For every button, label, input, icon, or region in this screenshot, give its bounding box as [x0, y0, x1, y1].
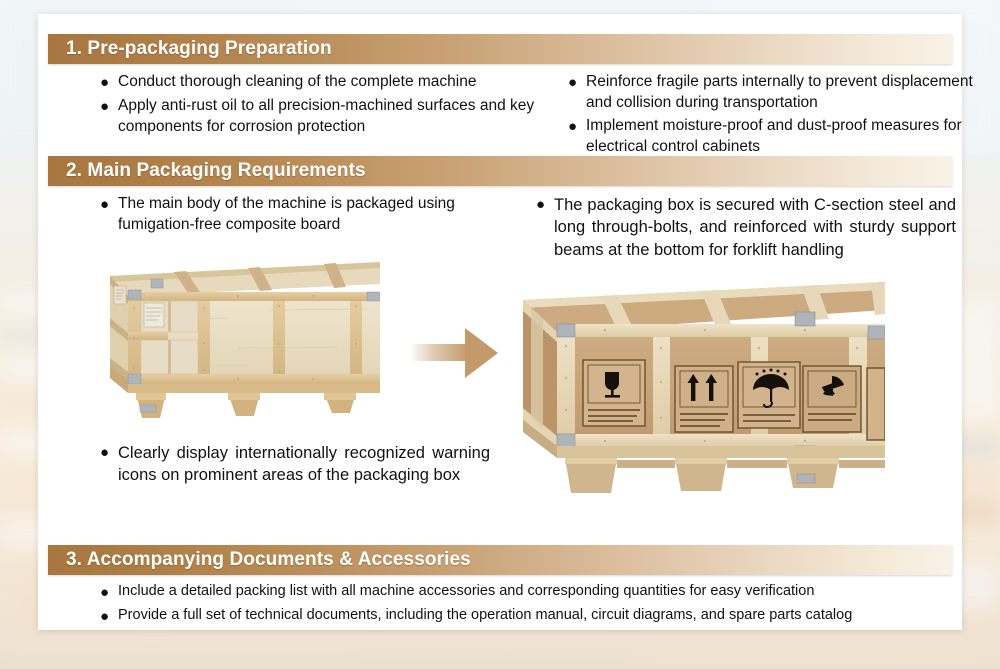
list-item: ● Conduct thorough cleaning of the compl… [100, 72, 550, 93]
section-header-1: 1. Pre-packaging Preparation [48, 34, 952, 64]
bullet-icon: ● [100, 194, 118, 215]
list-item: ● Apply anti-rust oil to all precision-m… [100, 96, 550, 137]
section-title-2: 2. Main Packaging Requirements [48, 160, 366, 182]
crate-left-image [88, 248, 380, 423]
list-item: ● Provide a full set of technical docume… [100, 606, 960, 627]
list-item: ● Reinforce fragile parts internally to … [568, 72, 978, 113]
caution-icon [867, 368, 885, 440]
bullet-icon: ● [100, 96, 118, 117]
list-item-text: Implement moisture-proof and dust-proof … [586, 116, 978, 157]
list-item-text: The packaging box is secured with C-sect… [554, 194, 956, 261]
list-item: ● Implement moisture-proof and dust-proo… [568, 116, 978, 157]
list-item-text: The main body of the machine is packaged… [118, 194, 500, 235]
bullet-icon: ● [100, 72, 118, 93]
section-2-bullets-right: ● The packaging box is secured with C-se… [536, 194, 956, 264]
keep-dry-label [738, 362, 800, 428]
slide-canvas: 1. Pre-packaging Preparation ● Conduct t… [0, 0, 1000, 669]
bullet-icon: ● [568, 116, 586, 137]
bullet-icon: ● [100, 442, 118, 463]
section-2-bullets-left: ● The main body of the machine is packag… [100, 194, 500, 238]
bullet-icon: ● [536, 194, 554, 215]
list-item: ● Include a detailed packing list with a… [100, 582, 960, 603]
section-title-3: 3. Accompanying Documents & Accessories [48, 549, 471, 571]
section-header-3: 3. Accompanying Documents & Accessories [48, 545, 952, 575]
section-header-2: 2. Main Packaging Requirements [48, 156, 952, 186]
section-3-bullets: ● Include a detailed packing list with a… [100, 582, 960, 631]
fragile-icon [583, 360, 645, 426]
bullet-icon: ● [100, 606, 118, 627]
bullet-icon: ● [568, 72, 586, 93]
list-item-text: Apply anti-rust oil to all precision-mac… [118, 96, 550, 137]
list-item-text: Provide a full set of technical document… [118, 606, 852, 625]
list-item: ● Clearly display internationally recogn… [100, 442, 490, 487]
section-title-1: 1. Pre-packaging Preparation [48, 38, 332, 60]
this-side-up-icon [675, 366, 733, 432]
list-item-text: Include a detailed packing list with all… [118, 582, 814, 601]
section-2-bullets-left-lower: ● Clearly display internationally recogn… [100, 442, 490, 490]
list-item: ● The packaging box is secured with C-se… [536, 194, 956, 261]
bullet-icon: ● [100, 582, 118, 603]
section-1-bullets-left: ● Conduct thorough cleaning of the compl… [100, 72, 550, 140]
list-item-text: Clearly display internationally recogniz… [118, 442, 490, 487]
right-arrow-icon [410, 326, 500, 380]
list-item-text: Conduct thorough cleaning of the complet… [118, 72, 476, 93]
list-item-text: Reinforce fragile parts internally to pr… [586, 72, 978, 113]
section-1-bullets-right: ● Reinforce fragile parts internally to … [568, 72, 978, 160]
list-item: ● The main body of the machine is packag… [100, 194, 500, 235]
crate-right-image [505, 278, 885, 500]
no-hand-hooks-icon [803, 366, 861, 432]
